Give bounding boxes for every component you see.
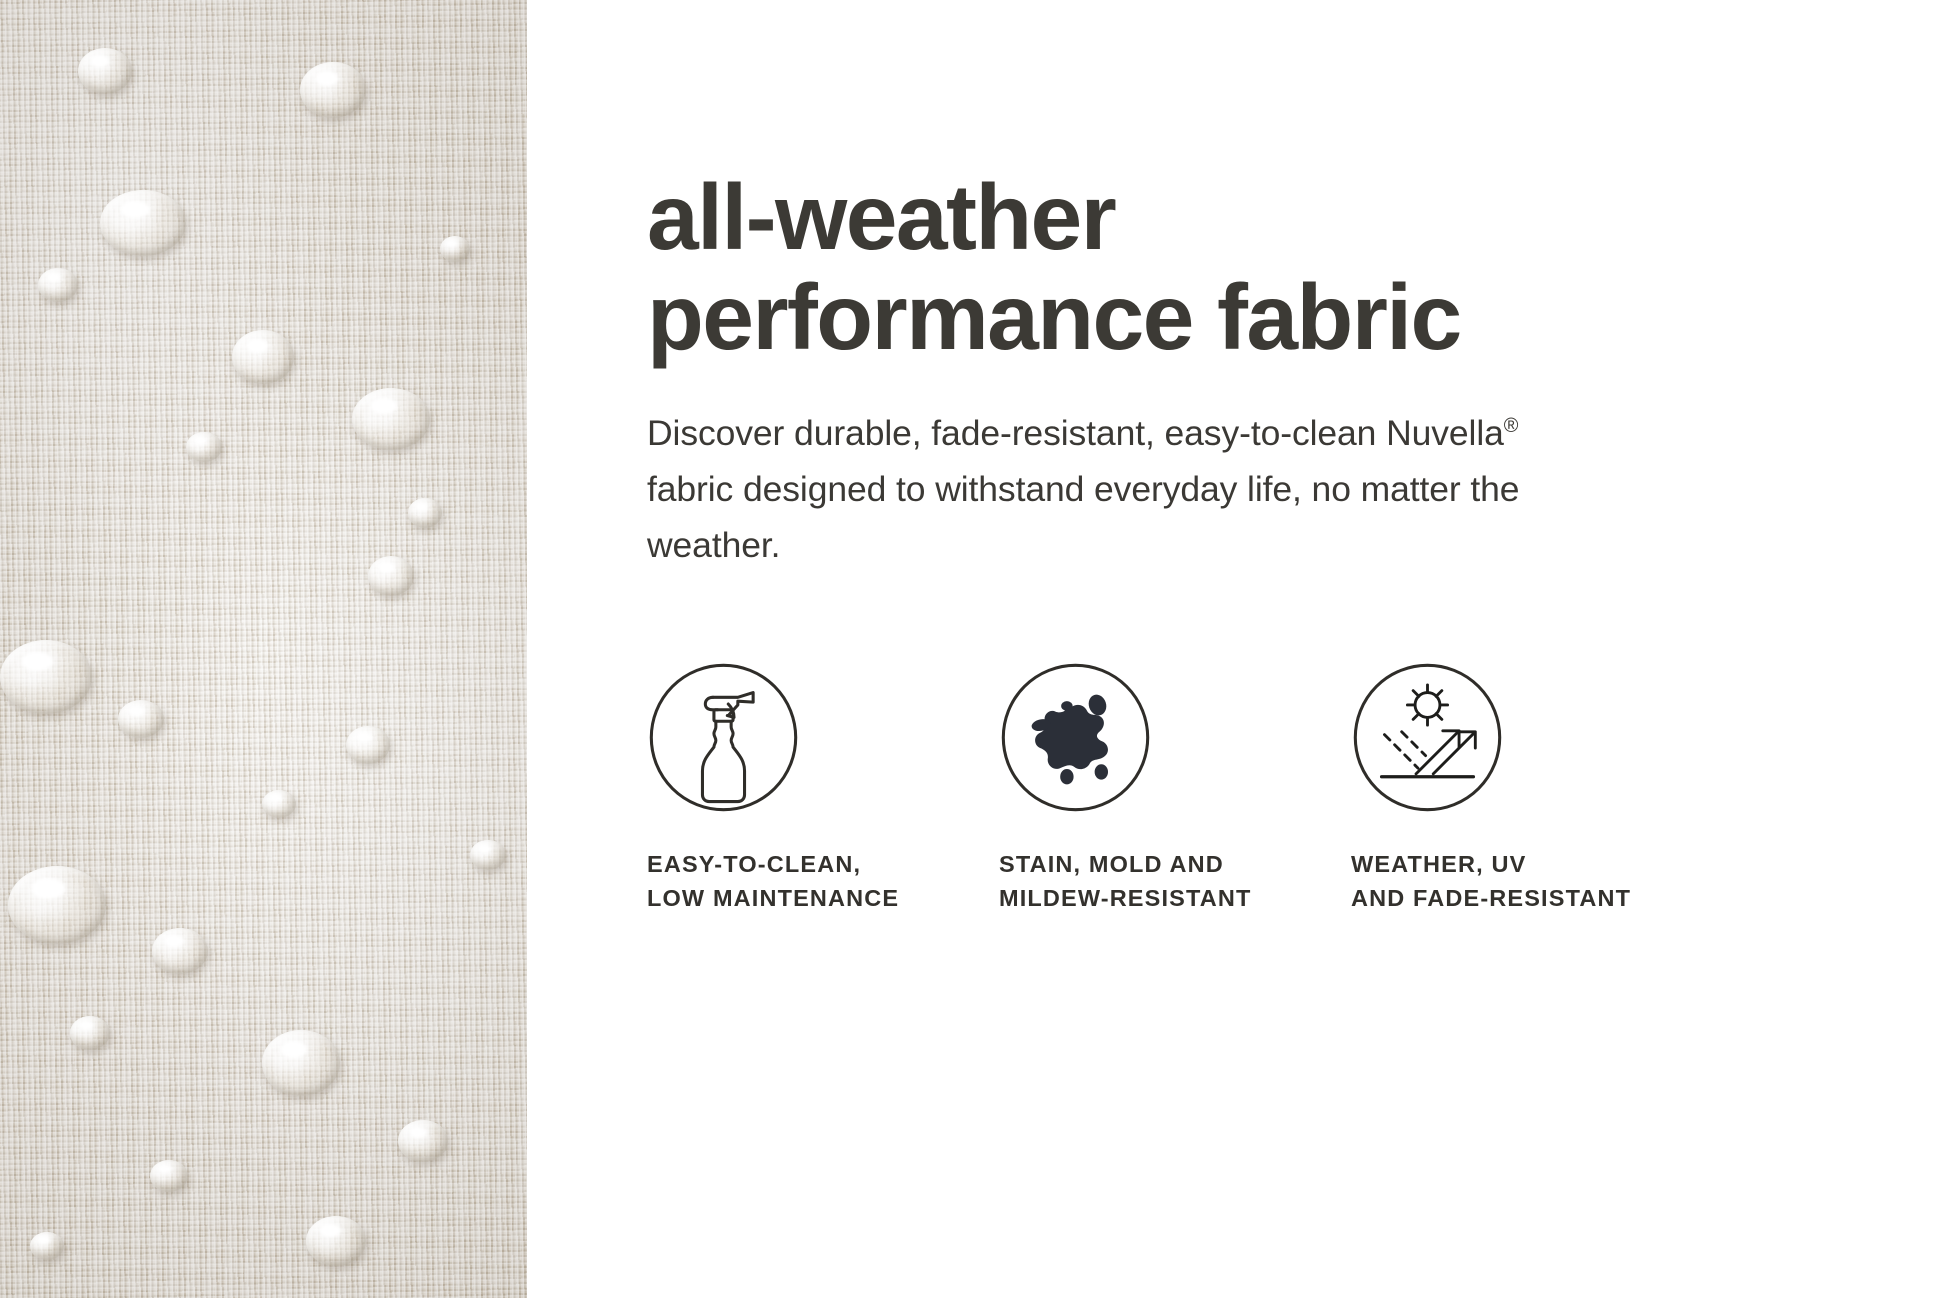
water-droplet [262,790,296,818]
feature-item-uv-resistant: WEATHER, UV AND FADE-RESISTANT [1351,661,1703,915]
feature-label: WEATHER, UV AND FADE-RESISTANT [1351,848,1703,915]
water-droplet [78,48,132,94]
water-droplet [300,62,366,118]
water-droplet [398,1120,448,1162]
water-droplet [100,190,186,256]
water-droplet [152,928,208,974]
water-droplet [306,1216,366,1266]
feature-item-easy-to-clean: EASY-TO-CLEAN, LOW MAINTENANCE [647,661,999,915]
page-title: all-weather performance fabric [647,168,1906,367]
water-droplet [186,432,222,462]
feature-label: EASY-TO-CLEAN, LOW MAINTENANCE [647,848,999,915]
water-droplet [408,498,442,528]
fabric-water-droplets-photo [0,0,527,1298]
water-droplet [38,268,78,302]
water-droplet [352,388,430,450]
feature-label: STAIN, MOLD AND MILDEW-RESISTANT [999,848,1351,915]
water-droplet [232,330,294,384]
subcopy-paragraph: Discover durable, fade-resistant, easy-t… [647,405,1607,573]
feature-item-stain-resistant: STAIN, MOLD AND MILDEW-RESISTANT [999,661,1351,915]
subcopy-part-2: fabric designed to withstand everyday li… [647,469,1519,565]
water-droplet [70,1016,110,1050]
water-droplet [262,1030,340,1096]
fabric-shading-layer [0,0,527,1298]
sun-uv-fade-icon [1351,661,1504,814]
water-droplet [470,840,506,870]
feature-list: EASY-TO-CLEAN, LOW MAINTENANCE [647,661,1906,915]
water-droplet [368,556,414,596]
water-droplet [8,866,106,944]
water-droplet [150,1160,188,1192]
content-panel: all-weather performance fabric Discover … [527,0,1946,1298]
stain-splat-icon [999,661,1152,814]
subcopy-part-1: Discover durable, fade-resistant, easy-t… [647,413,1504,453]
water-droplet [346,726,390,764]
water-droplet [0,640,92,714]
water-droplet [118,700,164,738]
spray-bottle-icon [647,661,800,814]
water-droplet [30,1232,64,1260]
registered-trademark-symbol: ® [1504,415,1519,437]
all-weather-fabric-banner: all-weather performance fabric Discover … [0,0,1946,1298]
water-droplet [440,236,470,262]
